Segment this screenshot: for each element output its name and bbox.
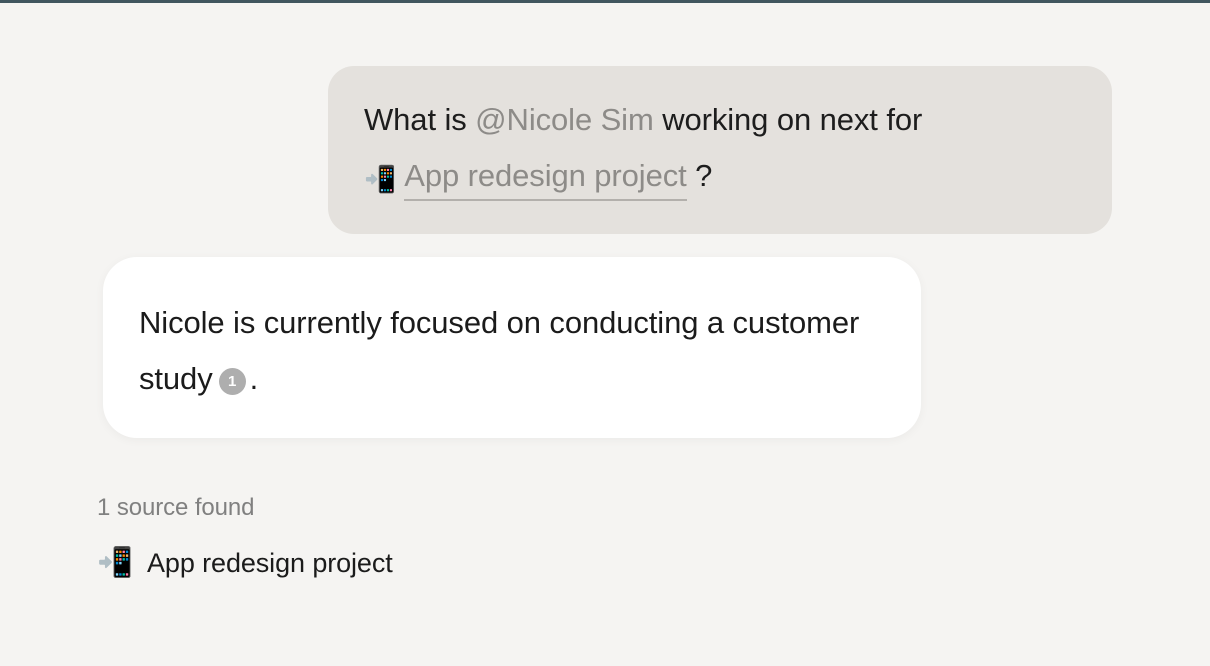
citation-badge-1[interactable]: 1 xyxy=(219,368,246,395)
answer-text: Nicole is currently focused on conductin… xyxy=(139,295,881,407)
source-item-app-redesign-project[interactable]: 📲 App redesign project xyxy=(97,546,697,580)
answer-card: Nicole is currently focused on conductin… xyxy=(103,257,921,438)
question-text: What is @Nicole Sim working on next for … xyxy=(364,92,1076,204)
question-bubble: What is @Nicole Sim working on next for … xyxy=(328,66,1112,234)
question-document-label[interactable]: App redesign project xyxy=(404,158,686,201)
sources-section: 1 source found 📲 App redesign project xyxy=(97,492,697,580)
question-document-reference[interactable]: 📲App redesign project xyxy=(364,148,687,204)
mention-nicole-sim[interactable]: @Nicole Sim xyxy=(475,102,654,137)
top-rule-divider xyxy=(0,0,1210,3)
question-prefix: What is xyxy=(364,102,475,137)
answer-body: Nicole is currently focused on conductin… xyxy=(139,305,859,396)
source-item-label[interactable]: App redesign project xyxy=(147,546,393,580)
sources-heading: 1 source found xyxy=(97,492,697,524)
assistant-answer-screen: What is @Nicole Sim working on next for … xyxy=(0,0,1210,666)
answer-body-tail: . xyxy=(250,361,259,396)
mobile-phone-with-arrow-icon: 📲 xyxy=(364,164,396,194)
mobile-phone-with-arrow-icon: 📲 xyxy=(97,549,133,578)
question-middle: working on next for xyxy=(654,102,923,137)
question-suffix: ? xyxy=(687,158,713,193)
